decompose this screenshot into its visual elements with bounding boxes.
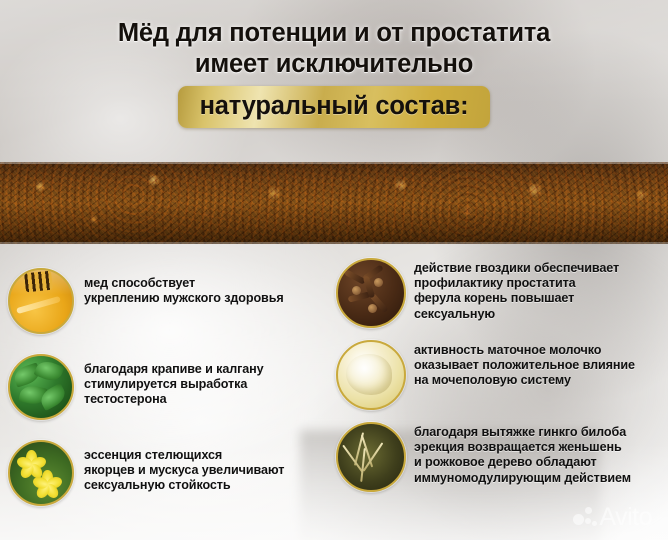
ingredient-line: эссенция стелющихся: [84, 448, 284, 463]
ginkgo-root-icon: [336, 422, 406, 492]
honey-jar-icon: [8, 268, 74, 334]
ingredient-line: мед способствует: [84, 276, 284, 291]
ingredient-item-nettle: благодаря крапиве и калгану стимулируетс…: [8, 354, 334, 420]
ingredient-line: и рожковое дерево обладают: [414, 455, 631, 470]
ingredients-column-right: действие гвоздики обеспечивает профилакт…: [334, 250, 668, 540]
honey-dipper-shape: [24, 271, 53, 292]
headline-highlight-bar: натуральный состав:: [178, 86, 491, 128]
flower-shape: [32, 468, 62, 498]
nettle-leaf-icon: [8, 354, 74, 420]
clove-bud-shape: [374, 278, 383, 287]
ingredient-line: сексуальную: [414, 307, 619, 322]
honey-band-bottom-edge: [0, 242, 668, 244]
ingredient-text-ginkgo: благодаря вытяжке гинкго билоба эрекция …: [414, 422, 631, 486]
honey-texture-band: [0, 162, 668, 244]
ingredient-text-nettle: благодаря крапиве и калгану стимулируетс…: [84, 354, 264, 408]
avito-dot: [573, 514, 584, 525]
ingredient-text-cloves: действие гвоздики обеспечивает профилакт…: [414, 258, 619, 322]
headline-highlight-wrapper: натуральный состав:: [178, 86, 491, 128]
clove-bud-shape: [352, 286, 361, 295]
honey-grain-overlay: [0, 162, 668, 244]
avito-wordmark: Avito: [599, 505, 652, 530]
ingredient-line: на мочеполовую систему: [414, 373, 635, 388]
ingredient-item-ginkgo: благодаря вытяжке гинкго билоба эрекция …: [336, 422, 668, 492]
headline-line-2: имеет исключительно: [0, 49, 668, 80]
ingredient-line: активность маточное молочко: [414, 343, 635, 358]
avito-dot: [592, 521, 597, 526]
headline-block: Мёд для потенции и от простатита имеет и…: [0, 18, 668, 128]
clove-bud-shape: [368, 304, 377, 313]
ingredient-line: стимулируется выработка: [84, 377, 264, 392]
headline-line-1: Мёд для потенции и от простатита: [0, 18, 668, 49]
avito-logo-icon: [573, 507, 597, 529]
ingredient-line: благодаря крапиве и калгану: [84, 362, 264, 377]
ingredient-line: профилактику простатита: [414, 276, 619, 291]
royal-jelly-icon: [336, 340, 406, 410]
promo-banner: Мёд для потенции и от простатита имеет и…: [0, 0, 668, 540]
ingredient-line: иммуномодулирующим действием: [414, 471, 631, 486]
ingredient-line: действие гвоздики обеспечивает: [414, 261, 619, 276]
ingredient-line: ферула корень повышает: [414, 291, 619, 306]
honey-drizzle-shape: [16, 296, 61, 314]
ingredients-column-left: мед способствует укреплению мужского здо…: [0, 250, 334, 540]
ingredient-line: благодаря вытяжке гинкго билоба: [414, 425, 631, 440]
cloves-icon: [336, 258, 406, 328]
ingredient-item-royal-jelly: активность маточное молочко оказывает по…: [336, 340, 668, 410]
ingredient-line: тестостерона: [84, 392, 264, 407]
avito-dot: [585, 518, 591, 524]
nettle-leaf-shape: [34, 358, 65, 384]
jelly-swirl-shape: [346, 354, 392, 395]
tribulus-flower-icon: [8, 440, 74, 506]
ingredient-text-honey: мед способствует укреплению мужского здо…: [84, 268, 284, 306]
ingredient-line: оказывает положительное влияние: [414, 358, 635, 373]
ingredient-line: сексуальную стойкость: [84, 478, 284, 493]
ingredient-item-cloves: действие гвоздики обеспечивает профилакт…: [336, 258, 668, 328]
ingredient-line: якорцев и мускуса увеличивают: [84, 463, 284, 478]
ingredient-line: эрекция возвращается женьшень: [414, 440, 631, 455]
ingredient-line: укреплению мужского здоровья: [84, 291, 284, 306]
ingredients-section: мед способствует укреплению мужского здо…: [0, 250, 668, 540]
avito-watermark: Avito: [573, 505, 652, 530]
ingredient-text-tribulus: эссенция стелющихся якорцев и мускуса ув…: [84, 440, 284, 494]
ingredient-text-royal-jelly: активность маточное молочко оказывает по…: [414, 340, 635, 389]
honey-band-top-edge: [0, 162, 668, 164]
avito-dot: [585, 507, 592, 514]
ingredient-item-honey: мед способствует укреплению мужского здо…: [8, 268, 334, 334]
ingredient-item-tribulus: эссенция стелющихся якорцев и мускуса ув…: [8, 440, 334, 506]
